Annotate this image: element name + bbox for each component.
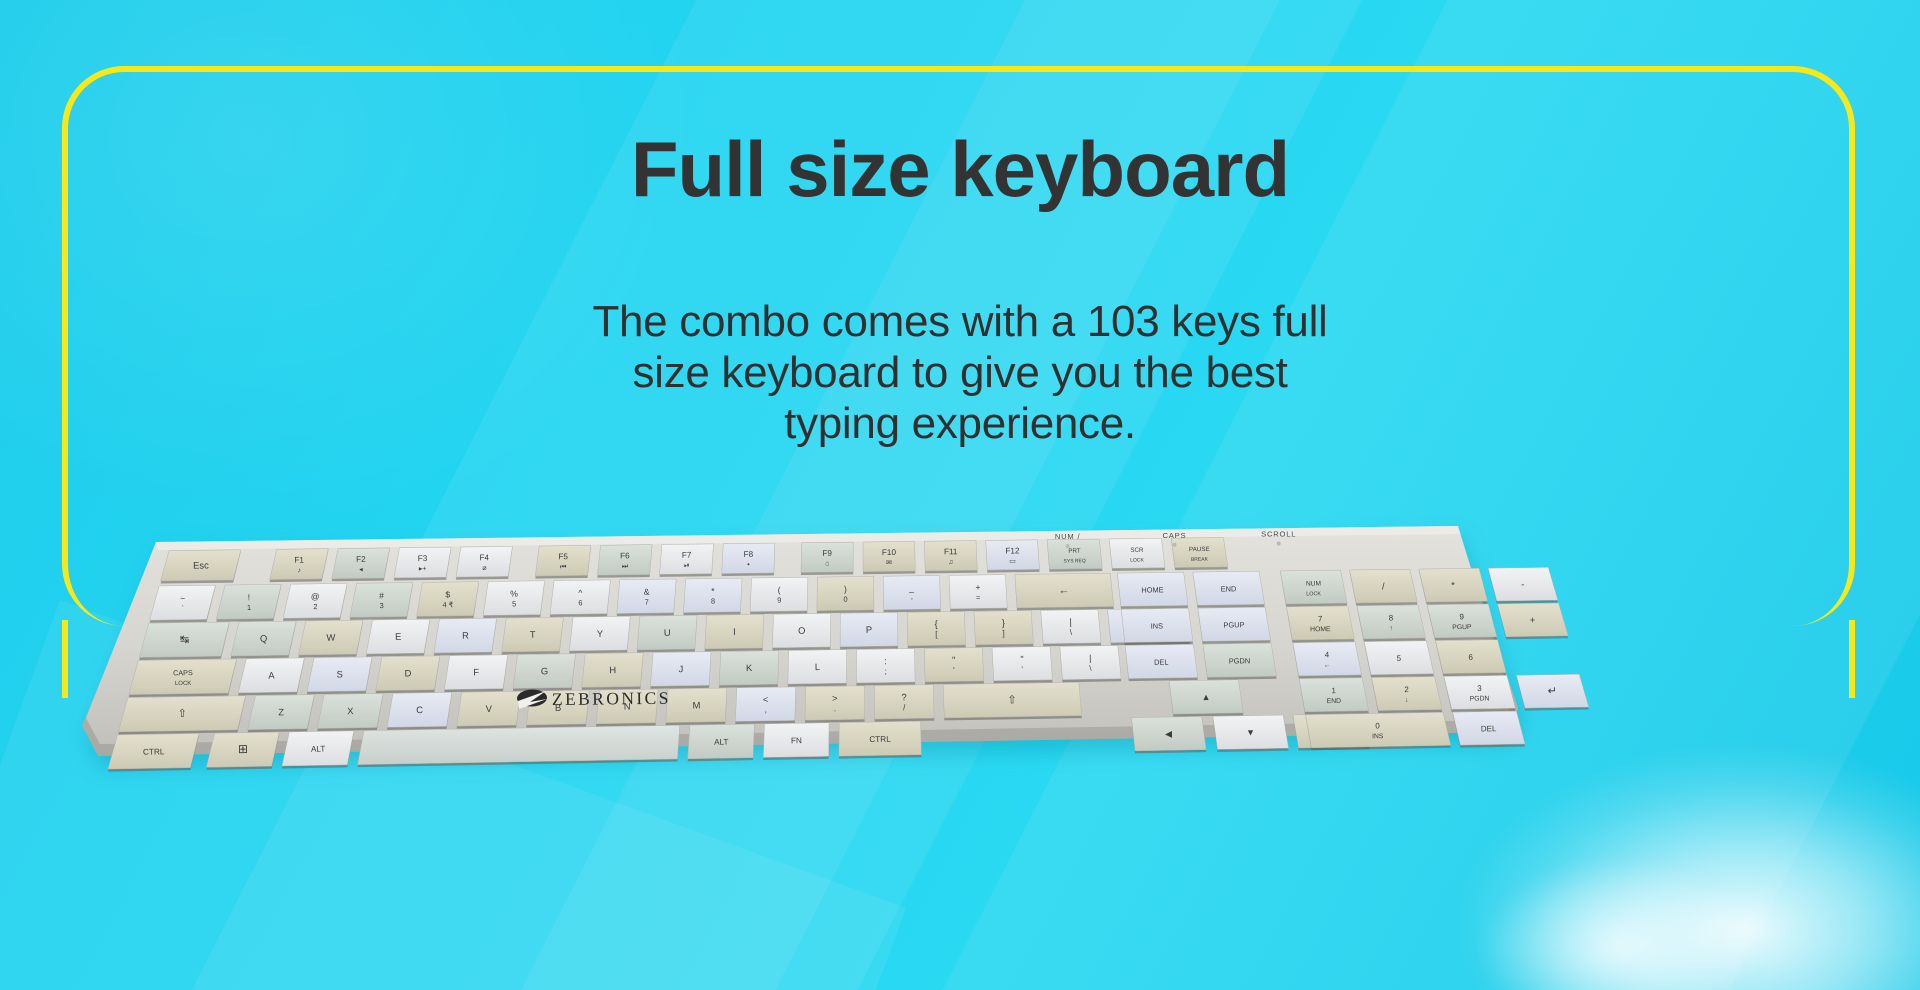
keycap-sublabel: ; — [884, 667, 886, 676]
keycap[interactable]: ← — [1015, 573, 1114, 610]
keycap[interactable]: "' — [924, 648, 984, 685]
keycap[interactable]: ↹ — [139, 622, 229, 660]
keycap[interactable]: _- — [883, 575, 940, 612]
keycap[interactable]: DEL — [1453, 711, 1525, 748]
keycap[interactable]: ?/ — [874, 685, 934, 722]
keycap-sublabel: 6 — [578, 598, 582, 607]
keycap[interactable]: F — [444, 655, 507, 692]
keycap[interactable]: 2↓ — [1372, 677, 1443, 714]
keycap-label: + — [1530, 614, 1536, 625]
keycap[interactable]: E — [366, 619, 430, 656]
keycap-label: CAPS — [173, 668, 193, 677]
keycap[interactable]: 7HOME — [1287, 606, 1355, 642]
keycap-sublabel: ⌂ — [825, 561, 829, 568]
keycap-label: ) — [844, 584, 847, 594]
keycap[interactable]: NUMLOCK — [1280, 570, 1347, 606]
keycap-label: Y — [597, 628, 604, 639]
indicator-label: SCROLL — [1261, 529, 1296, 538]
keycap-label: ( — [778, 585, 781, 595]
keycap[interactable]: F4⌀ — [456, 546, 512, 579]
keycap[interactable]: PAUSEBREAK — [1171, 538, 1228, 571]
keycap-sublabel: 9 — [777, 596, 781, 605]
keycap-label: E — [395, 631, 401, 642]
keycap-label: O — [798, 625, 805, 636]
keycap[interactable]: F12▭ — [986, 540, 1040, 573]
keycap-sublabel: LOCK — [1306, 591, 1321, 597]
keycap[interactable]: 1END — [1299, 678, 1369, 715]
keycap-label: + — [975, 582, 980, 592]
keycap[interactable]: ALT — [688, 724, 755, 761]
keycap[interactable]: Q — [231, 621, 296, 659]
keycap[interactable]: F7⏯ — [660, 544, 714, 577]
keycap[interactable]: X — [317, 693, 383, 731]
keycap[interactable]: 3PGDN — [1444, 675, 1516, 711]
keycap[interactable]: !1 — [216, 584, 281, 621]
keycap-label: P — [866, 624, 872, 635]
keycap-sublabel: ↓ — [1405, 697, 1409, 704]
keycap-sublabel: PGDN — [1470, 695, 1490, 702]
keycap[interactable]: INS — [1121, 608, 1193, 645]
keycap[interactable]: F6⏭ — [597, 545, 652, 578]
keycap-label: ▼ — [1246, 727, 1255, 737]
keycap[interactable]: W — [298, 620, 363, 657]
keycap[interactable]: @2 — [283, 583, 347, 620]
keycap-label: ALT — [714, 737, 729, 746]
keycap-sublabel: ◂ — [359, 567, 363, 574]
keycap[interactable]: ⊞ — [206, 732, 279, 770]
keycap-label: ALT — [311, 744, 326, 753]
keycap-label: F4 — [479, 553, 489, 562]
keycap-label: ? — [901, 691, 906, 702]
keycap[interactable]: PGDN — [1203, 643, 1277, 680]
keycap[interactable]: I — [705, 614, 764, 651]
keycap[interactable]: ^6 — [550, 580, 610, 617]
keycap-label: M — [692, 699, 700, 710]
keycap-label: DEL — [1154, 658, 1169, 667]
keycap[interactable]: L — [788, 650, 847, 687]
keycap[interactable]: D — [376, 656, 440, 693]
keycap-sublabel: SYS REQ — [1063, 558, 1085, 564]
keycap-label: 0 — [1375, 721, 1380, 730]
keycap-sublabel: ♫ — [948, 559, 953, 566]
keycap-sublabel: PGUP — [1452, 624, 1472, 631]
keycap-sublabel: 4 ₹ — [442, 600, 453, 609]
keycap-label: ! — [248, 592, 251, 602]
keycap-label: 1 — [1331, 686, 1336, 695]
keycap-label: D — [404, 667, 411, 678]
keycap-label: 9 — [1459, 612, 1464, 621]
keycap-label: T — [530, 629, 536, 640]
keycap-sublabel: END — [1327, 698, 1342, 705]
keycap-label: NUM — [1306, 580, 1321, 587]
keycap[interactable]: P — [840, 612, 898, 649]
keycap[interactable]: V — [457, 691, 521, 728]
keycap-label: " — [952, 654, 955, 665]
keycap-label: CTRL — [143, 747, 165, 756]
keyboard-product-image: EscF1♪F2◂F3▸+F4⌀F5⏮F6⏭F7⏯F8▪F9⌂F10✉F11♫F… — [60, 520, 1860, 940]
keycap[interactable] — [358, 725, 680, 767]
keycap-label: 4 — [1325, 650, 1330, 659]
keycap-sublabel: 0 — [843, 595, 847, 604]
keycap-label: | — [1069, 616, 1072, 627]
keycap-sublabel: 3 — [380, 601, 384, 610]
keycap[interactable]: 6 — [1436, 640, 1507, 676]
keycap-label: F3 — [418, 554, 428, 563]
keycap[interactable]: += — [949, 575, 1007, 612]
keycap[interactable]: #3 — [350, 583, 413, 620]
keycap-label: 6 — [1468, 653, 1473, 662]
keycap-label: < — [763, 694, 769, 705]
keycap-sublabel: ▭ — [1009, 558, 1016, 565]
keycap-label: F10 — [882, 548, 897, 557]
keycap[interactable]: PRTSYS REQ — [1047, 539, 1102, 572]
keycap-sublabel: ⌀ — [482, 565, 486, 572]
keycap[interactable]: - — [1488, 567, 1558, 603]
keycap[interactable]: A — [238, 658, 304, 696]
keycap-label: * — [1451, 579, 1455, 590]
keycap-sublabel: 2 — [313, 602, 317, 611]
keycap[interactable]: + — [1497, 603, 1568, 639]
keycap[interactable]: ⇧ — [943, 682, 1082, 720]
indicator-label: NUM / — [1055, 532, 1081, 541]
keycap-label: U — [664, 627, 671, 638]
keycap-label: Q — [260, 633, 267, 644]
keycap-label: ⊞ — [238, 742, 248, 756]
keycap-label: F2 — [356, 555, 366, 564]
keycap-label: ↹ — [180, 634, 189, 646]
keycap-label: ~ — [180, 593, 185, 603]
keycap[interactable]: ◀ — [1131, 716, 1206, 753]
keycap[interactable]: }] — [974, 611, 1033, 648]
keycap[interactable]: / — [1350, 569, 1418, 605]
keycap-label: PAUSE — [1189, 546, 1210, 553]
indicator-label: CAPS — [1163, 531, 1187, 540]
keycap-label: F12 — [1005, 546, 1020, 555]
keycap-label: DEL — [1481, 724, 1497, 733]
keycap-label: | — [1089, 653, 1091, 663]
keycap-sublabel: 1 — [247, 603, 251, 612]
keycap[interactable]: * — [1419, 568, 1488, 604]
keycap[interactable]: &7 — [617, 579, 677, 616]
keycap[interactable]: C — [387, 692, 452, 729]
keycap-label: $ — [445, 589, 450, 599]
keycap-label: F — [473, 666, 479, 677]
keycap-label: ^ — [578, 588, 582, 598]
keycap[interactable]: ↵ — [1516, 674, 1588, 710]
keycap-sublabel: . — [834, 704, 836, 713]
keycap[interactable]: G — [513, 654, 575, 691]
keycap[interactable]: :; — [856, 649, 915, 686]
keycap[interactable]: F2◂ — [332, 548, 390, 581]
keycap[interactable]: {[ — [907, 611, 966, 648]
svg-text:ZEBRONICS: ZEBRONICS — [552, 688, 671, 709]
keycap[interactable]: 4← — [1293, 642, 1362, 679]
keycap-label: F11 — [944, 547, 958, 556]
keycap[interactable]: ALT — [282, 731, 354, 769]
keycap-label: END — [1221, 584, 1237, 593]
keycap[interactable]: >. — [805, 686, 865, 723]
keycap-label: V — [486, 703, 493, 714]
keycap-label: A — [268, 670, 275, 681]
keycap[interactable]: F10✉ — [863, 541, 915, 574]
keycap-label: Esc — [193, 559, 209, 570]
keycap-sublabel: HOME — [1310, 626, 1331, 633]
keycap-label: I — [733, 626, 736, 637]
keycap-label: F8 — [744, 550, 754, 559]
page-title: Full size keyboard — [0, 130, 1920, 208]
keycap-sublabel: 8 — [711, 597, 715, 606]
keycap[interactable]: CTRL — [108, 733, 199, 771]
keycap-sublabel: 5 — [512, 599, 516, 608]
keycap-sublabel: ← — [1324, 662, 1331, 669]
subtitle-line-3: typing experience. — [400, 398, 1520, 449]
keycap-label: ⇧ — [1007, 694, 1016, 706]
keycap-label: CTRL — [869, 735, 891, 744]
keycap-sublabel: ⏮ — [560, 564, 566, 571]
keycap[interactable]: |\ — [1041, 610, 1101, 647]
keycap[interactable]: FN — [763, 723, 829, 760]
keycap-label: ◀ — [1165, 729, 1172, 739]
keycap[interactable]: J — [650, 652, 711, 689]
keycap-sublabel: ] — [1002, 629, 1004, 638]
keycap[interactable]: DEL — [1125, 644, 1198, 681]
indicator-led — [1066, 544, 1070, 548]
keycap-label: R — [462, 630, 469, 641]
keycap-sublabel: BREAK — [1191, 557, 1209, 563]
keycap-label: - — [1521, 578, 1524, 589]
keycap[interactable]: F8▪ — [722, 543, 775, 576]
keycap-sublabel: ♪ — [297, 567, 301, 574]
keycap[interactable]: F1♪ — [270, 549, 329, 582]
keycap[interactable]: HOME — [1117, 572, 1188, 609]
keycap-label: K — [746, 662, 753, 673]
keycap-label: ↵ — [1548, 685, 1557, 697]
keycap[interactable]: M — [666, 688, 727, 725]
keycap-label: F7 — [682, 551, 692, 560]
keycap[interactable]: H — [582, 653, 644, 690]
keycap[interactable]: F9⌂ — [801, 542, 853, 575]
subtitle: The combo comes with a 103 keys full siz… — [400, 296, 1520, 449]
keycap[interactable]: 8↑ — [1357, 605, 1426, 641]
keycap[interactable]: "' — [992, 647, 1053, 684]
keycap-sublabel: ▸+ — [419, 566, 427, 573]
keycap-label: _ — [908, 583, 914, 593]
keycap-label: F1 — [294, 556, 304, 565]
keycap-label: ← — [1058, 585, 1069, 597]
keycap[interactable]: %5 — [483, 581, 544, 618]
keycap-label: J — [678, 663, 683, 674]
keycap[interactable]: F11♫ — [924, 541, 977, 574]
keycap-label: FN — [791, 736, 802, 745]
keycap-label: " — [1020, 654, 1023, 664]
keycap-label: # — [379, 590, 384, 600]
keycap-label: } — [1002, 617, 1005, 628]
keycap-label: { — [935, 618, 938, 629]
keycap-sublabel: = — [976, 593, 980, 602]
keycap-label: W — [326, 632, 335, 643]
keycap[interactable]: Esc — [161, 550, 241, 584]
keycap[interactable]: SCRLOCK — [1109, 538, 1165, 571]
keycap-label: F6 — [620, 551, 630, 560]
keycap[interactable]: R — [434, 618, 497, 655]
keycap-label: & — [644, 587, 650, 597]
keycap-sublabel: INS — [1372, 733, 1384, 740]
keycap[interactable]: ⇧ — [118, 696, 245, 735]
keycap[interactable]: )0 — [817, 576, 874, 613]
keycap-sublabel: ↑ — [1389, 625, 1393, 632]
subtitle-line-1: The combo comes with a 103 keys full — [400, 296, 1520, 347]
keycap-label: 3 — [1477, 684, 1482, 693]
keycap[interactable]: CAPSLOCK — [129, 659, 237, 697]
keycap-label: ⇧ — [178, 708, 187, 720]
keycap-sublabel: ⏯ — [684, 562, 690, 569]
keycap-label: C — [416, 704, 423, 715]
keycap-label: @ — [311, 591, 320, 601]
keycap[interactable]: Z — [248, 695, 315, 733]
keycap-label: Z — [278, 706, 284, 717]
keycap[interactable]: CTRL — [839, 721, 921, 758]
keycap-label: 7 — [1318, 614, 1323, 623]
keycap-label: ▲ — [1201, 692, 1210, 702]
keycap-label: 8 — [1389, 613, 1394, 622]
keycap[interactable]: END — [1193, 571, 1265, 608]
keycap-label: PRT — [1068, 548, 1081, 555]
keycap-sublabel: ⏭ — [622, 563, 629, 570]
keycap[interactable]: K — [719, 651, 779, 688]
keycap[interactable]: (9 — [750, 577, 808, 614]
keycap-label: F5 — [558, 552, 568, 561]
keycap-sublabel: LOCK — [175, 681, 191, 687]
keycap-label: 2 — [1404, 685, 1409, 694]
keycap-label: S — [337, 668, 343, 679]
keycap[interactable]: Y — [569, 616, 630, 653]
keycap-label: H — [609, 664, 616, 675]
keycap-label: > — [832, 692, 838, 703]
keycap[interactable]: U — [637, 615, 697, 652]
keycap[interactable]: ~` — [150, 585, 216, 623]
keycap-sublabel: , — [765, 705, 767, 714]
keycap[interactable]: PGUP — [1198, 607, 1271, 644]
keycap-label: PGUP — [1223, 620, 1244, 629]
keycap[interactable]: 9PGUP — [1427, 604, 1497, 640]
keycap[interactable]: ▲ — [1169, 680, 1243, 717]
keycap[interactable]: 5 — [1364, 641, 1434, 677]
subtitle-line-2: size keyboard to give you the best — [400, 347, 1520, 398]
indicator-led — [1172, 543, 1176, 547]
keycap[interactable]: ▼ — [1213, 715, 1289, 752]
keyboard-svg: EscF1♪F2◂F3▸+F4⌀F5⏮F6⏭F7⏯F8▪F9⌂F10✉F11♫F… — [60, 520, 1860, 940]
keycap[interactable]: S — [307, 657, 372, 694]
keycap[interactable]: <, — [735, 687, 795, 724]
keycap-label: 5 — [1397, 654, 1402, 663]
keycap-sublabel: ✉ — [886, 560, 892, 567]
keycap[interactable]: *8 — [683, 578, 742, 615]
keycap-sublabel: LOCK — [1130, 557, 1144, 563]
keycap[interactable]: 0INS — [1306, 712, 1451, 750]
keycap-sublabel: ` — [182, 604, 185, 613]
keycap[interactable]: O — [772, 613, 830, 650]
keycap-label: : — [884, 655, 887, 666]
keycap[interactable]: F3▸+ — [394, 547, 451, 580]
keycap-label: SCR — [1130, 547, 1144, 554]
keycap[interactable]: F5⏮ — [535, 545, 590, 578]
keycap[interactable]: |\ — [1060, 645, 1121, 682]
keycap[interactable]: $4 ₹ — [417, 582, 479, 619]
keycap-label: HOME — [1141, 585, 1163, 594]
keycap-label: L — [815, 661, 820, 672]
keycap-label: INS — [1151, 621, 1164, 630]
keycap-label: F9 — [822, 549, 832, 558]
keycap-label: PGDN — [1229, 656, 1250, 665]
promo-banner: Full size keyboard The combo comes with … — [0, 0, 1920, 990]
keycap-label: X — [347, 705, 354, 716]
keycap-label: % — [510, 589, 518, 599]
keycap[interactable]: T — [502, 617, 564, 654]
keycap-sublabel: 7 — [645, 597, 649, 606]
indicator-led — [1277, 541, 1281, 545]
keycap-label: G — [541, 665, 548, 676]
